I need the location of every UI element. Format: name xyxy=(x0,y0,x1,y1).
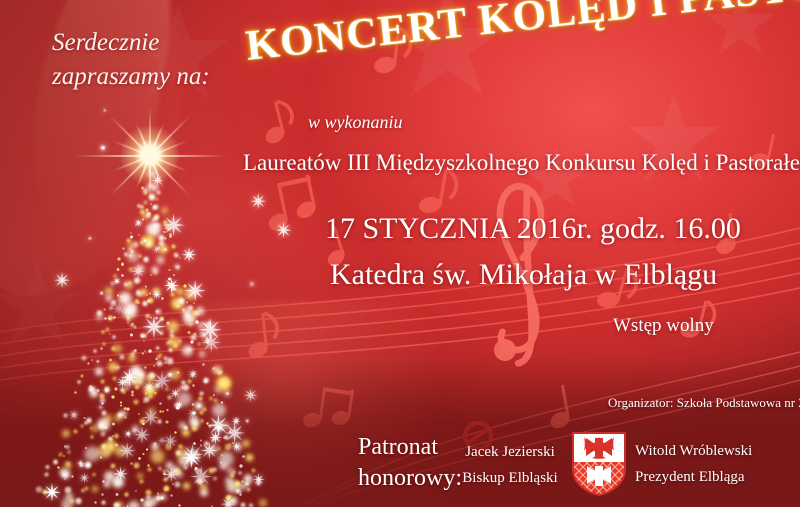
tree-light-dot xyxy=(101,443,107,449)
tree-light-dot xyxy=(220,378,231,389)
tree-light-dot xyxy=(238,471,243,476)
tree-light-dot xyxy=(120,295,123,298)
sparkle-star-icon: ✴ xyxy=(157,435,168,448)
tree-light-dot xyxy=(157,419,162,424)
tree-light-dot xyxy=(181,306,192,317)
tree-light-dot xyxy=(120,404,123,407)
sparkle-star-icon: ✴ xyxy=(247,280,256,291)
tree-light-dot xyxy=(65,492,75,502)
background-star-icon: ★ xyxy=(0,250,87,360)
tree-light-dot xyxy=(115,501,123,507)
tree-light-dot xyxy=(66,461,71,466)
tree-light-dot xyxy=(116,268,120,272)
tree-light-dot xyxy=(235,488,241,494)
tree-light-dot xyxy=(142,300,149,307)
tree-light-dot xyxy=(112,422,115,425)
tree-light-dot xyxy=(127,353,137,363)
tree-light-dot xyxy=(145,314,149,318)
tree-light-dot xyxy=(163,477,168,482)
tree-light-dot xyxy=(140,205,144,209)
tree-light-dot xyxy=(251,468,255,472)
tree-light-dot xyxy=(213,476,218,481)
tree-light-dot xyxy=(148,349,152,353)
tree-light-dot xyxy=(148,212,151,215)
sparkle-star-icon: ✴ xyxy=(242,479,252,491)
tree-light-dot xyxy=(213,398,218,403)
tree-light-dot xyxy=(185,313,190,318)
tree-light-dot xyxy=(170,466,180,476)
tree-light-dot xyxy=(240,502,246,507)
tree-light-dot xyxy=(179,257,181,259)
tree-light-dot xyxy=(153,365,155,367)
tree-light-dot xyxy=(195,320,199,324)
tree-light-dot xyxy=(170,292,175,297)
tree-light-dot xyxy=(238,482,247,491)
tree-light-dot xyxy=(223,436,227,440)
tree-light-dot xyxy=(143,396,150,403)
tree-light-dot xyxy=(165,443,172,450)
tree-light-dot xyxy=(170,494,173,497)
tree-light-dot xyxy=(199,488,209,498)
tree-light-dot xyxy=(150,316,153,319)
sparkle-star-icon: ✴ xyxy=(126,246,136,258)
tree-light-dot xyxy=(131,393,134,396)
tree-light-dot xyxy=(141,186,145,190)
tree-light-dot xyxy=(169,233,172,236)
tree-light-dot xyxy=(202,407,207,412)
tree-light-dot xyxy=(166,319,181,334)
sparkle-star-icon: ✴ xyxy=(151,243,162,256)
tree-light-dot xyxy=(107,361,119,373)
tree-light-dot xyxy=(153,442,157,446)
tree-light-dot xyxy=(124,416,127,419)
patron-left-block: Jacek Jezierski Biskup Elbląski xyxy=(455,440,565,491)
tree-light-dot xyxy=(142,453,145,456)
tree-light-dot xyxy=(178,421,187,430)
tree-light-dot xyxy=(87,362,90,365)
tree-light-dot xyxy=(131,378,139,386)
tree-light-dot xyxy=(142,352,144,354)
tree-light-dot xyxy=(128,281,132,285)
tree-light-dot xyxy=(103,470,116,483)
tree-light-dot xyxy=(139,418,146,425)
tree-light-dot xyxy=(206,341,209,344)
sparkle-star-icon: ✴ xyxy=(151,174,164,189)
sparkle-star-icon: ✴ xyxy=(163,434,179,453)
tree-light-dot xyxy=(80,374,84,378)
tree-light-dot xyxy=(130,232,132,234)
tree-light-dot xyxy=(225,479,240,494)
tree-light-dot xyxy=(181,380,186,385)
tree-light-dot xyxy=(64,445,66,447)
tree-light-dot xyxy=(141,212,149,220)
tree-light-dot xyxy=(98,422,105,429)
tree-light-dot xyxy=(191,375,194,378)
tree-light-dot xyxy=(73,429,78,434)
tree-light-dot xyxy=(159,410,162,413)
tree-light-dot xyxy=(121,263,124,266)
tree-light-dot xyxy=(209,396,214,401)
tree-light-dot xyxy=(125,387,129,391)
tree-light-dot xyxy=(154,214,160,220)
tree-light-dot xyxy=(151,218,156,223)
tree-light-dot xyxy=(134,384,141,391)
tree-light-dot xyxy=(142,187,149,194)
sparkle-star-icon: ✴ xyxy=(231,440,242,453)
tree-light-dot xyxy=(170,329,175,334)
tree-light-dot xyxy=(168,339,173,344)
tree-light-dot xyxy=(84,486,89,491)
tree-light-dot xyxy=(209,444,219,454)
sparkle-star-icon: ✴ xyxy=(96,404,105,415)
tree-light-dot xyxy=(191,425,199,433)
tree-light-dot xyxy=(135,263,146,274)
tree-light-dot xyxy=(126,317,131,322)
tree-light-dot xyxy=(212,368,214,370)
tree-light-dot xyxy=(89,388,99,398)
patron-right-name: Witold Wróblewski xyxy=(635,438,795,464)
tree-light-dot xyxy=(189,322,193,326)
tree-light-dot xyxy=(54,488,56,490)
tree-light-dot xyxy=(124,280,134,290)
tree-light-dot xyxy=(208,467,215,474)
tree-light-dot xyxy=(94,367,103,376)
sparkle-star-icon: ✴ xyxy=(98,290,105,298)
tree-light-dot xyxy=(128,252,134,258)
tree-light-dot xyxy=(109,306,113,310)
tree-light-dot xyxy=(63,455,65,457)
tree-light-dot xyxy=(112,335,117,340)
tree-light-dot xyxy=(163,356,168,361)
tree-light-dot xyxy=(228,443,232,447)
tree-light-dot xyxy=(190,419,200,429)
tree-light-dot xyxy=(153,223,158,228)
tree-light-dot xyxy=(122,390,126,394)
tree-light-dot xyxy=(156,190,161,195)
tree-light-dot xyxy=(187,379,192,384)
tree-light-dot xyxy=(133,241,140,248)
tree-light-dot xyxy=(166,357,174,365)
sparkle-star-icon: ✴ xyxy=(141,313,167,344)
tree-light-dot xyxy=(148,193,156,201)
tree-light-dot xyxy=(123,407,127,411)
sparkle-star-icon: ✴ xyxy=(142,380,156,396)
tree-light-dot xyxy=(143,200,148,205)
tree-light-dot xyxy=(111,395,115,399)
tree-light-dot xyxy=(147,464,150,467)
tree-light-dot xyxy=(126,309,131,314)
tree-light-dot xyxy=(173,252,178,257)
tree-light-dot xyxy=(189,415,199,425)
tree-light-dot xyxy=(193,302,195,304)
tree-light-dot xyxy=(217,446,221,450)
tree-light-dot xyxy=(122,247,125,250)
tree-light-dot xyxy=(143,334,147,338)
tree-light-dot xyxy=(223,389,231,397)
tree-light-dot xyxy=(136,472,144,480)
sparkle-star-icon: ✴ xyxy=(124,430,133,441)
tree-light-dot xyxy=(135,290,143,298)
tree-light-dot xyxy=(150,183,159,192)
tree-light-dot xyxy=(158,353,163,358)
tree-light-dot xyxy=(176,304,180,308)
tree-light-dot xyxy=(134,349,136,351)
tree-light-dot xyxy=(161,297,164,300)
sparkle-star-icon: ✴ xyxy=(181,442,205,471)
tree-light-dot xyxy=(149,448,166,465)
sparkle-star-icon: ✴ xyxy=(152,289,162,302)
tree-light-dot xyxy=(197,342,202,347)
tree-light-dot xyxy=(42,489,48,495)
tree-light-dot xyxy=(159,402,162,405)
tree-light-dot xyxy=(84,461,92,469)
tree-light-dot xyxy=(152,205,157,210)
tree-light-dot xyxy=(156,355,160,359)
tree-light-dot xyxy=(135,377,144,386)
tree-light-dot xyxy=(241,439,251,449)
sparkle-star-icon: ✴ xyxy=(170,387,181,400)
tree-light-dot xyxy=(143,191,147,195)
tree-light-dot xyxy=(190,334,197,341)
tree-light-dot xyxy=(167,336,182,351)
tree-light-dot xyxy=(45,465,50,470)
organizer-text: Organizator: Szkoła Podstawowa nr 21 xyxy=(608,395,800,411)
sparkle-star-icon: ✴ xyxy=(76,459,85,470)
sparkle-star-icon: ✴ xyxy=(244,417,251,426)
tree-light-dot xyxy=(216,421,218,423)
tree-light-dot xyxy=(104,317,107,320)
tree-light-dot xyxy=(167,282,171,286)
tree-light-dot xyxy=(138,413,141,416)
tree-light-dot xyxy=(133,462,140,469)
tree-light-dot xyxy=(96,310,103,317)
tree-light-dot xyxy=(135,224,138,227)
tree-light-dot xyxy=(182,482,191,491)
tree-light-dot xyxy=(114,387,118,391)
tree-light-dot xyxy=(157,246,160,249)
tree-light-dot xyxy=(197,321,206,330)
tree-light-dot xyxy=(102,342,107,347)
tree-light-dot xyxy=(117,412,124,419)
sparkle-star-icon: ✴ xyxy=(197,329,209,343)
tree-light-dot xyxy=(132,428,137,433)
tree-light-dot xyxy=(86,417,93,424)
tree-light-dot xyxy=(246,487,251,492)
tree-light-dot xyxy=(158,234,166,242)
tree-light-dot xyxy=(104,286,114,296)
tree-light-dot xyxy=(208,424,212,428)
tree-light-dot xyxy=(171,289,173,291)
tree-light-dot xyxy=(110,463,115,468)
sparkle-star-icon: ✴ xyxy=(172,262,182,274)
tree-light-dot xyxy=(164,489,167,492)
patron-left-role: Biskup Elbląski xyxy=(455,466,565,492)
tree-light-dot xyxy=(136,220,141,225)
tree-light-dot xyxy=(198,350,207,359)
tree-light-dot xyxy=(158,244,169,255)
sparkle-star-icon: ✴ xyxy=(165,371,175,383)
tree-light-dot xyxy=(102,480,105,483)
tree-light-dot xyxy=(164,237,167,240)
tree-light-dot xyxy=(173,343,178,348)
tree-light-dot xyxy=(204,380,207,383)
tree-light-dot xyxy=(151,266,160,275)
tree-light-dot xyxy=(112,376,117,381)
sparkle-star-icon: ✴ xyxy=(122,281,130,291)
tree-light-dot xyxy=(199,410,204,415)
tree-light-dot xyxy=(165,420,169,424)
tree-light-dot xyxy=(145,285,147,287)
tree-light-dot xyxy=(132,350,137,355)
tree-light-dot xyxy=(101,500,106,505)
tree-light-dot xyxy=(145,489,152,496)
tree-light-dot xyxy=(61,429,71,439)
tree-light-dot xyxy=(134,299,139,304)
tree-light-dot xyxy=(166,409,168,411)
tree-light-dot xyxy=(99,397,106,404)
sparkle-star-icon: ✴ xyxy=(118,440,137,463)
tree-light-dot xyxy=(213,367,215,369)
tree-light-dot xyxy=(91,359,93,361)
sparkle-star-icon: ✴ xyxy=(131,264,147,283)
tree-light-dot xyxy=(165,225,170,230)
tree-light-dot xyxy=(182,308,186,312)
tree-light-dot xyxy=(100,456,102,458)
tree-light-dot xyxy=(127,500,140,507)
tree-light-dot xyxy=(191,403,195,407)
tree-light-dot xyxy=(148,326,151,329)
tree-light-dot xyxy=(147,169,157,179)
tree-light-dot xyxy=(196,402,204,410)
tree-light-dot xyxy=(187,347,192,352)
tree-light-dot xyxy=(145,208,149,212)
tree-light-dot xyxy=(112,300,116,304)
performers-text: Laureatów III Międzyszkolnego Konkursu K… xyxy=(243,150,800,176)
sparkle-star-icon: ✴ xyxy=(152,369,173,395)
tree-light-dot xyxy=(214,385,223,394)
tree-light-dot xyxy=(195,311,200,316)
tree-light-dot xyxy=(174,481,181,488)
tree-light-dot xyxy=(90,435,94,439)
tree-light-dot xyxy=(186,301,189,304)
tree-light-dot xyxy=(141,335,145,339)
tree-light-dot xyxy=(131,424,140,433)
tree-light-dot xyxy=(166,321,170,325)
tree-light-dot xyxy=(159,316,165,322)
tree-light-dot xyxy=(155,346,160,351)
tree-light-dot xyxy=(155,495,162,502)
tree-light-dot xyxy=(138,254,143,259)
tree-light-dot xyxy=(170,334,174,338)
sparkle-star-icon: ✴ xyxy=(231,417,241,429)
sparkle-star-icon: ✴ xyxy=(79,472,91,486)
tree-light-dot xyxy=(226,392,229,395)
sparkle-star-icon: ✴ xyxy=(102,107,108,114)
tree-light-dot xyxy=(57,466,60,469)
tree-light-dot xyxy=(88,385,96,393)
tree-light-dot xyxy=(141,333,145,337)
sparkle-star-icon: ✴ xyxy=(201,331,223,357)
sparkle-star-icon: ✴ xyxy=(42,483,62,507)
tree-light-dot xyxy=(110,281,115,286)
tree-light-dot xyxy=(101,330,105,334)
tree-light-dot xyxy=(196,478,203,485)
tree-light-dot xyxy=(35,486,43,494)
sparkle-star-icon: ✴ xyxy=(120,368,140,392)
tree-light-dot xyxy=(194,467,198,471)
tree-light-dot xyxy=(199,391,204,396)
sparkle-star-icon: ✴ xyxy=(220,497,236,507)
tree-light-dot xyxy=(124,378,130,384)
tree-light-dot xyxy=(187,305,194,312)
tree-light-dot xyxy=(196,468,201,473)
sparkle-star-icon: ✴ xyxy=(134,219,143,230)
tree-light-dot xyxy=(162,410,164,412)
tree-light-dot xyxy=(163,472,167,476)
tree-light-dot xyxy=(155,197,159,201)
tree-light-dot xyxy=(157,347,159,349)
tree-light-dot xyxy=(198,396,204,402)
performers-label: w wykonaniu xyxy=(308,112,403,133)
sparkle-star-icon: ✴ xyxy=(161,211,186,241)
tree-light-dot xyxy=(146,182,155,191)
tree-light-dot xyxy=(119,410,127,418)
sparkle-star-icon: ✴ xyxy=(181,246,198,266)
tree-light-dot xyxy=(105,327,110,332)
tree-light-dot xyxy=(90,427,92,429)
tree-light-dot xyxy=(245,453,254,462)
tree-light-dot xyxy=(103,480,112,489)
tree-light-dot xyxy=(155,308,162,315)
tree-light-dot xyxy=(121,302,138,319)
tree-light-dot xyxy=(163,220,167,224)
tree-light-dot xyxy=(230,472,235,477)
tree-light-dot xyxy=(156,255,165,264)
tree-light-dot xyxy=(133,325,137,329)
tree-light-dot xyxy=(163,221,169,227)
sparkle-star-icon: ✴ xyxy=(187,408,199,423)
tree-light-dot xyxy=(221,401,224,404)
sparkle-star-icon: ✴ xyxy=(78,462,87,472)
tree-light-dot xyxy=(115,278,120,283)
tree-light-dot xyxy=(214,365,224,375)
sparkle-star-icon: ✴ xyxy=(175,400,185,412)
tree-light-dot xyxy=(194,311,198,315)
tree-light-dot xyxy=(200,444,203,447)
sparkle-star-icon: ✴ xyxy=(98,144,108,155)
tree-light-dot xyxy=(243,475,253,485)
tree-light-dot xyxy=(213,394,215,396)
tree-light-dot xyxy=(115,365,120,370)
tree-light-dot xyxy=(126,407,130,411)
tree-light-dot xyxy=(258,498,267,507)
sparkle-star-icon: ✴ xyxy=(87,235,93,243)
tree-light-dot xyxy=(83,445,101,463)
tree-light-dot xyxy=(112,343,123,354)
tree-light-dot xyxy=(159,493,167,501)
tree-light-dot xyxy=(158,240,165,247)
tree-light-dot xyxy=(127,322,129,324)
tree-light-dot xyxy=(83,417,86,420)
tree-light-dot xyxy=(126,316,130,320)
tree-light-dot xyxy=(196,453,200,457)
tree-light-dot xyxy=(58,452,63,457)
tree-light-dot xyxy=(156,360,163,367)
tree-light-dot xyxy=(182,311,197,326)
tree-light-dot xyxy=(220,461,223,464)
tree-light-dot xyxy=(182,384,190,392)
tree-light-dot xyxy=(165,387,169,391)
